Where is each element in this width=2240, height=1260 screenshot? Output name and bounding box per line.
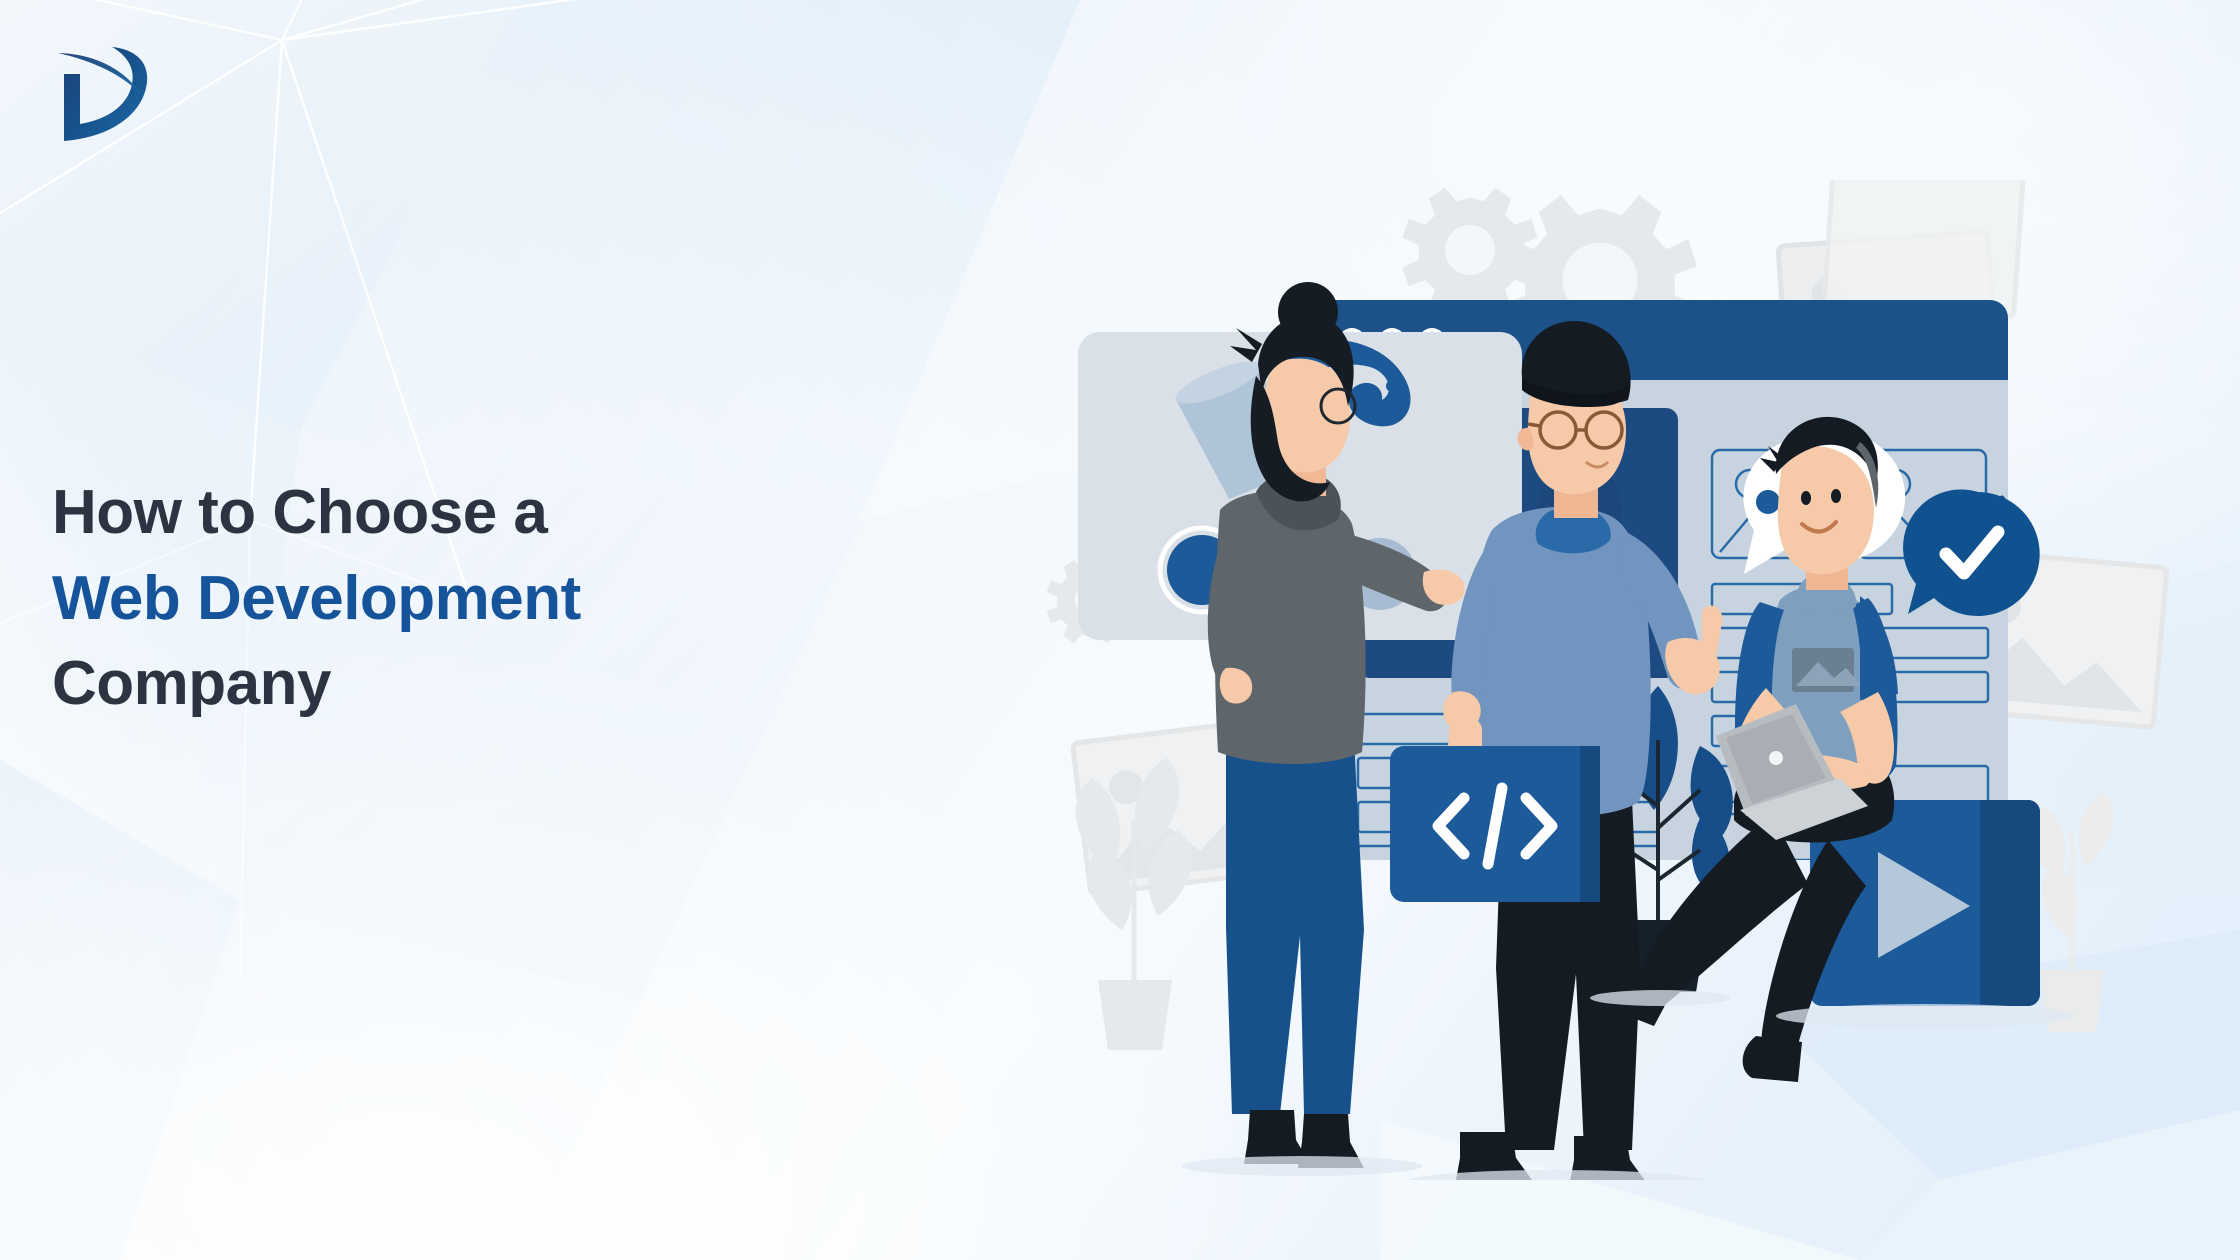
ghost-plant-right: [2030, 792, 2114, 1032]
letter-d-logo[interactable]: [50, 36, 156, 144]
hero-banner: How to Choose a Web Development Company: [0, 0, 2240, 1260]
headline-line-3: Company: [52, 641, 872, 727]
headline-line-2: Web Development: [52, 556, 872, 642]
check-badge: [1903, 489, 2040, 616]
page-title: How to Choose a Web Development Company: [52, 470, 872, 727]
headline-line-1: How to Choose a: [52, 470, 872, 556]
web-development-team-illustration: [1040, 180, 2240, 1180]
